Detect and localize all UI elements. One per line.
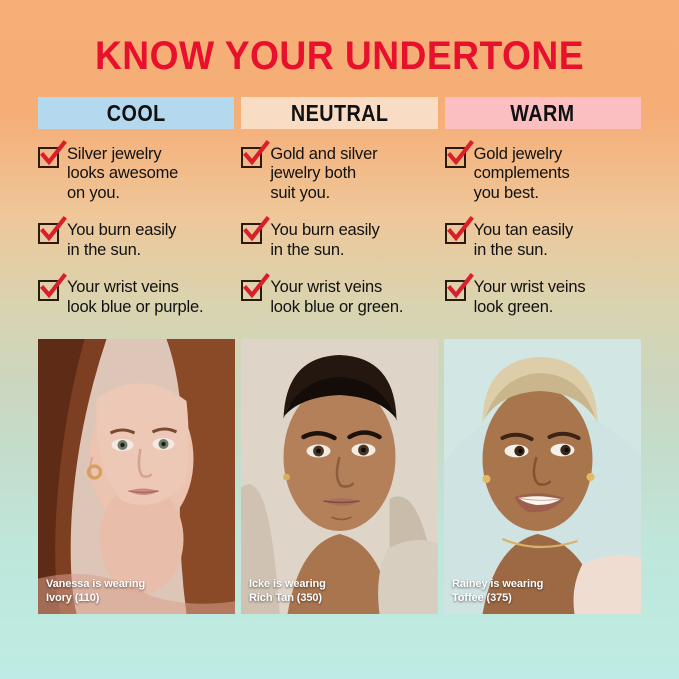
undertone-checklist-row: Silver jewelry looks awesome on you. You… — [0, 145, 679, 317]
column-warm: Gold jewelry complements you best. You t… — [445, 145, 641, 317]
checkmark-icon — [445, 280, 466, 301]
checkmark-icon — [38, 147, 59, 168]
list-item-label: Your wrist veins look green. — [474, 278, 586, 317]
list-item: Silver jewelry looks awesome on you. — [38, 145, 234, 203]
photo-caption-icke: Icke is wearing Rich Tan (350) — [249, 578, 326, 605]
list-item: Your wrist veins look blue or green. — [241, 278, 437, 317]
checkmark-icon — [445, 147, 466, 168]
column-cool: Silver jewelry looks awesome on you. You… — [38, 145, 234, 317]
header-neutral: NEUTRAL — [241, 97, 437, 129]
page-title: KNOW YOUR UNDERTONE — [24, 0, 655, 77]
checkmark-icon — [241, 280, 262, 301]
portrait-rainey — [444, 339, 641, 614]
column-neutral: Gold and silver jewelry both suit you. Y… — [241, 145, 437, 317]
list-item: You burn easily in the sun. — [38, 221, 234, 260]
list-item: Your wrist veins look green. — [445, 278, 641, 317]
list-item: Gold and silver jewelry both suit you. — [241, 145, 437, 203]
list-item-label: Your wrist veins look blue or purple. — [67, 278, 203, 317]
model-photo-rainey: Rainey is wearing Toffee (375) — [444, 339, 641, 614]
model-photo-row: Vanessa is wearing Ivory (110) — [0, 339, 679, 614]
list-item-label: Gold jewelry complements you best. — [474, 145, 570, 203]
infographic-root: KNOW YOUR UNDERTONE COOL NEUTRAL WARM Si… — [0, 0, 679, 614]
photo-caption-vanessa: Vanessa is wearing Ivory (110) — [46, 578, 145, 605]
list-item-label: You burn easily in the sun. — [67, 221, 176, 260]
checkmark-icon — [241, 147, 262, 168]
portrait-icke — [241, 339, 438, 614]
header-warm: WARM — [445, 97, 641, 129]
list-item-label: Silver jewelry looks awesome on you. — [67, 145, 178, 203]
list-item-label: Your wrist veins look blue or green. — [270, 278, 403, 317]
header-warm-label: WARM — [511, 100, 575, 127]
list-item: Your wrist veins look blue or purple. — [38, 278, 234, 317]
list-item: You tan easily in the sun. — [445, 221, 641, 260]
header-cool-label: COOL — [107, 100, 166, 127]
list-item-label: Gold and silver jewelry both suit you. — [270, 145, 377, 203]
list-item-label: You tan easily in the sun. — [474, 221, 573, 260]
header-cool: COOL — [38, 97, 234, 129]
header-neutral-label: NEUTRAL — [291, 100, 389, 127]
list-item: Gold jewelry complements you best. — [445, 145, 641, 203]
checkmark-icon — [38, 280, 59, 301]
undertone-header-row: COOL NEUTRAL WARM — [0, 97, 679, 129]
checkmark-icon — [241, 223, 262, 244]
list-item-label: You burn easily in the sun. — [270, 221, 379, 260]
list-item: You burn easily in the sun. — [241, 221, 437, 260]
photo-caption-rainey: Rainey is wearing Toffee (375) — [452, 578, 543, 605]
checkmark-icon — [38, 223, 59, 244]
model-photo-vanessa: Vanessa is wearing Ivory (110) — [38, 339, 235, 614]
portrait-vanessa — [38, 339, 235, 614]
checkmark-icon — [445, 223, 466, 244]
model-photo-icke: Icke is wearing Rich Tan (350) — [241, 339, 438, 614]
